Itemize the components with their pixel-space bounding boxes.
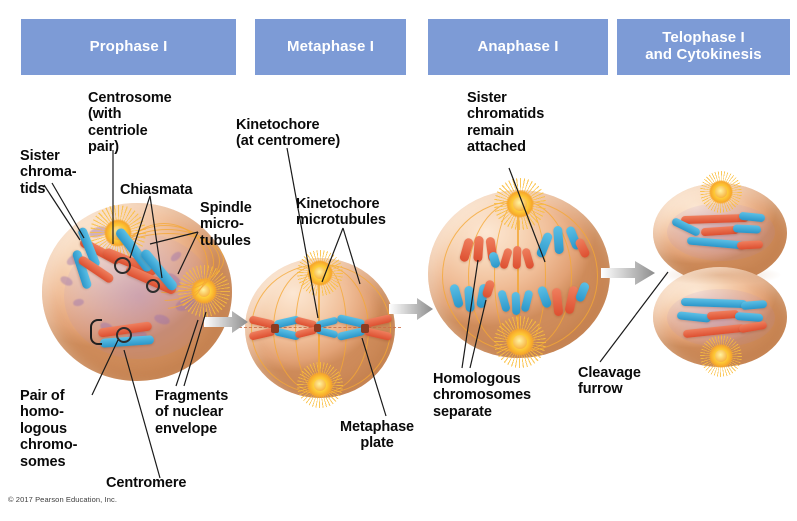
anaphase-chromosome-upper-right: [538, 226, 594, 262]
chromosome-blue: [464, 286, 475, 313]
chromosome-blue: [733, 224, 761, 233]
label-kinetochore-microtubules: Kinetochore microtubules: [296, 196, 420, 229]
chromosome-red: [737, 240, 763, 249]
kinetochore-marker: [271, 324, 279, 333]
copyright-notice: © 2017 Pearson Education, Inc.: [8, 495, 117, 504]
pole-centrosome-top: [307, 260, 333, 286]
chromosome-blue: [512, 292, 521, 315]
chromosome-blue: [553, 226, 564, 255]
arrow-anaphase-to-telophase: [601, 258, 657, 288]
label-homologous-chromosomes-separate: Homologous chromosomes separate: [433, 371, 579, 420]
chromosome-red: [499, 247, 513, 269]
anaphase-chromosome-lower-left: [450, 280, 502, 314]
label-centromere: Centromere: [106, 475, 226, 491]
arrow-prophase-to-metaphase: [204, 308, 250, 336]
chromosome-red: [513, 246, 522, 269]
anaphase-chromosome-lower-center: [498, 286, 542, 316]
label-centrosome: Centrosome (with centriole pair): [88, 90, 206, 156]
chromosome-blue: [449, 283, 464, 309]
anaphase-chromosome-lower-right: [540, 282, 596, 320]
arrow-metaphase-to-anaphase: [389, 295, 435, 323]
chromosome-pair-center: [295, 316, 341, 342]
chromosome-blue: [497, 289, 511, 312]
chromosome-red: [574, 237, 591, 259]
chromosome-red: [552, 288, 564, 317]
telophase-cell-group: [653, 183, 787, 367]
label-chiasmata: Chiasmata: [120, 182, 230, 198]
chromosome-red: [459, 237, 474, 263]
anaphase-chromosome-upper-center: [500, 246, 542, 274]
chromosome-blue: [520, 289, 533, 312]
label-metaphase-plate: Metaphase plate: [326, 419, 428, 452]
chiasma-hook: [90, 319, 102, 345]
pole-centrosome-bottom: [506, 328, 534, 356]
chiasma-point: [146, 279, 160, 293]
centromere-marker: [114, 257, 131, 274]
phase-header-telophase-i: Telophase I and Cytokinesis: [617, 19, 790, 75]
chromosome-red: [473, 236, 484, 263]
label-pair-of-homologous-chromosomes: Pair of homo- logous chromo- somes: [20, 388, 98, 470]
phase-header-metaphase-i: Metaphase I: [255, 19, 406, 75]
phase-header-telophase-i-label-line1: Telophase I: [662, 30, 745, 47]
chromosome-red: [481, 279, 495, 299]
pole-centrosome-bottom: [307, 372, 333, 398]
label-fragments-of-nuclear-envelope: Fragments of nuclear envelope: [155, 388, 255, 437]
phase-header-prophase-i: Prophase I: [21, 19, 236, 75]
phase-header-anaphase-i-label: Anaphase I: [477, 39, 558, 56]
metaphase-cell: [245, 258, 395, 398]
kinetochore-marker: [314, 324, 321, 332]
label-sister-chromatids-remain-attached: Sister chromatids remain attached: [467, 90, 589, 156]
phase-header-prophase-i-label: Prophase I: [90, 39, 168, 56]
pole-centrosome-top: [506, 190, 534, 218]
pole-centrosome-top: [709, 180, 733, 204]
chromosome-pair-left: [249, 314, 301, 344]
chromosome-red: [521, 247, 534, 269]
chromosome-blue: [535, 231, 553, 258]
phase-header-telophase-i-label-line2: and Cytokinesis: [645, 47, 762, 64]
label-cleavage-furrow: Cleavage furrow: [578, 365, 668, 398]
phase-header-anaphase-i: Anaphase I: [428, 19, 608, 75]
chromosome-blue: [575, 281, 591, 303]
label-kinetochore: Kinetochore (at centromere): [236, 117, 378, 150]
pole-centrosome-bottom: [709, 344, 733, 368]
phase-header-metaphase-i-label: Metaphase I: [287, 39, 374, 56]
cleavage-furrow-shading: [659, 265, 781, 285]
meiosis-figure: Prophase I Metaphase I Anaphase I Teloph…: [0, 0, 797, 521]
centromere-marker: [116, 327, 132, 343]
label-spindle-microtubules: Spindle micro- tubules: [200, 200, 290, 249]
label-sister-chromatids-prophase: Sister chroma- tids: [20, 148, 94, 197]
anaphase-cell: [428, 190, 610, 358]
kinetochore-marker: [361, 324, 369, 333]
chromosome-pair-right: [337, 313, 393, 345]
